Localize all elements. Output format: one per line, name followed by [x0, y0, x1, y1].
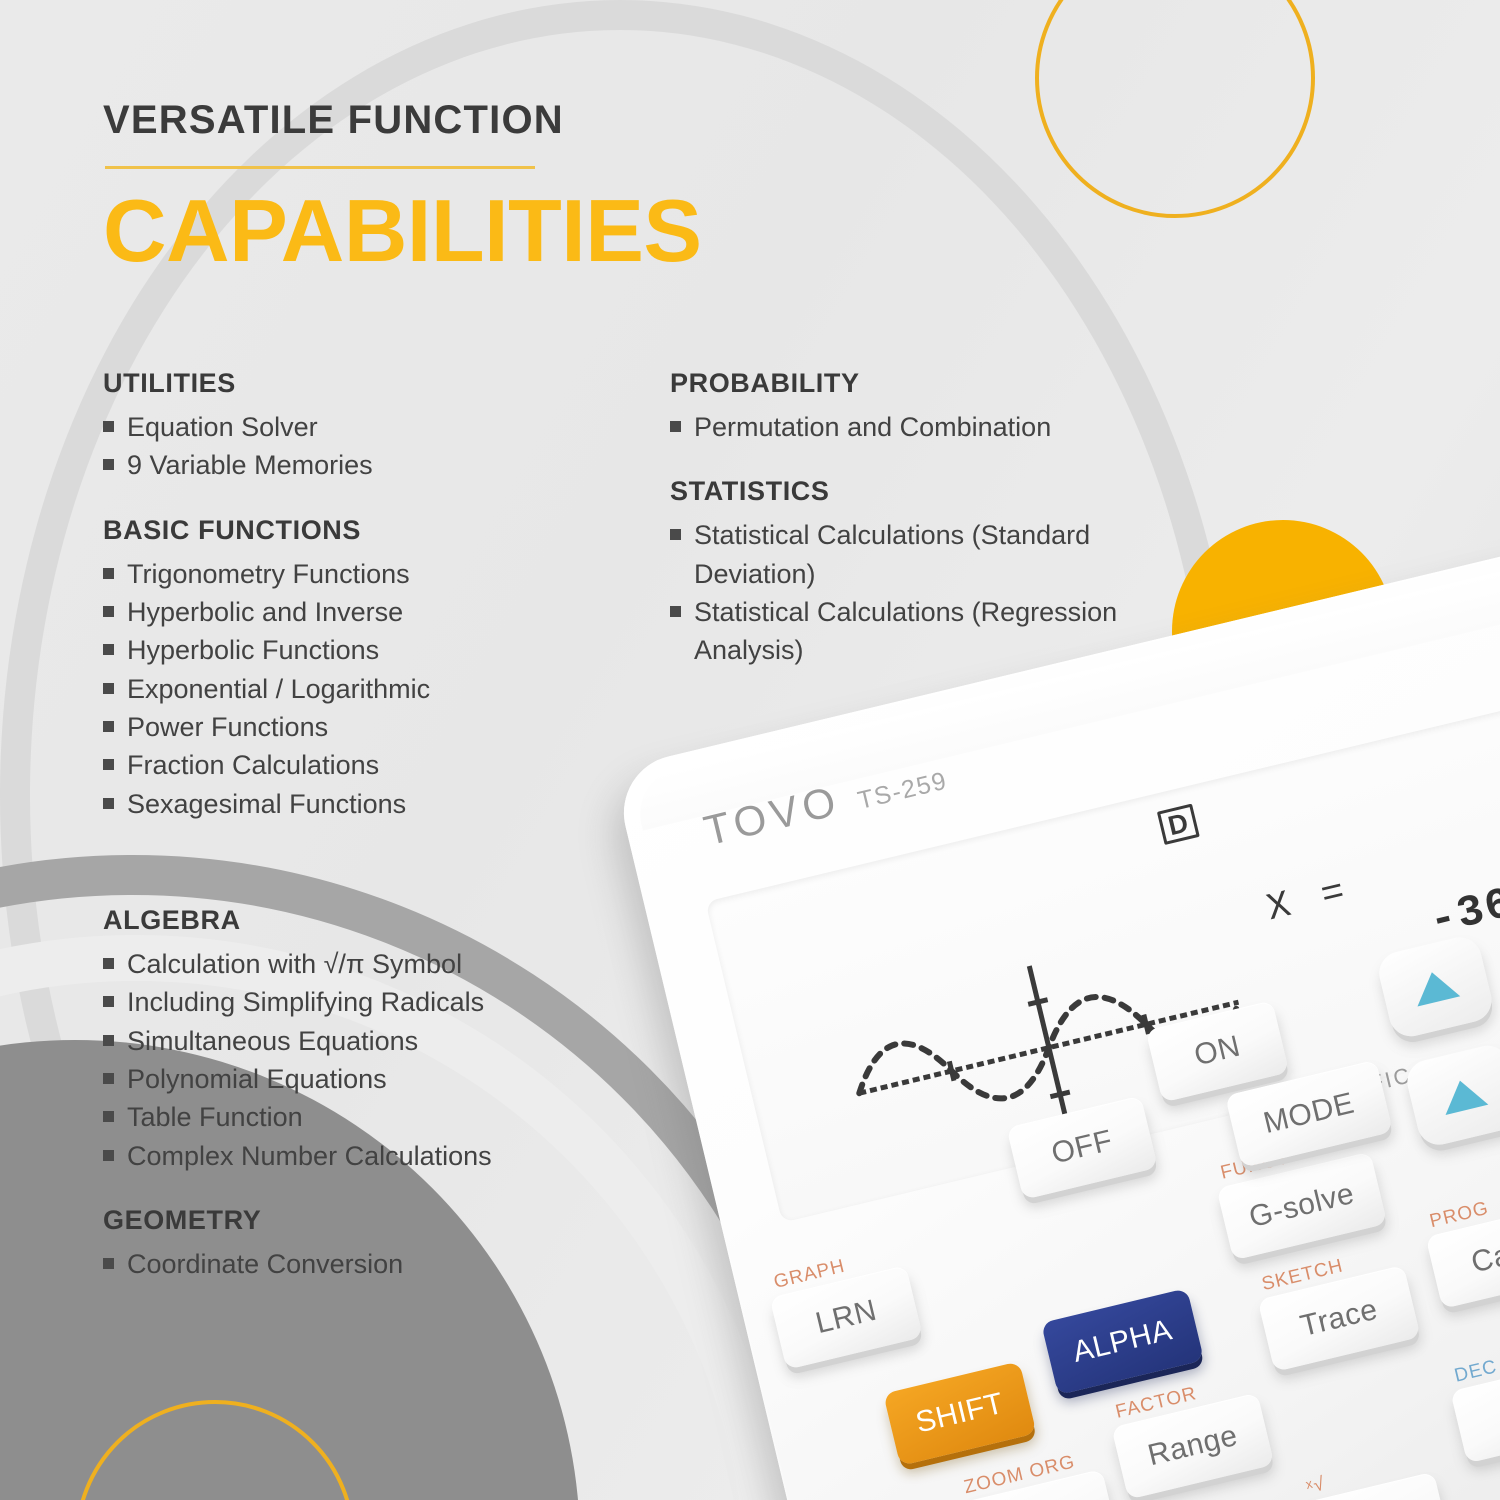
- lcd-prompt: X =: [1263, 870, 1354, 931]
- page-header: VERSATILE FUNCTION CAPABILITIES: [103, 98, 863, 275]
- bullet-icon: [103, 721, 114, 732]
- list-item: Equation Solver: [103, 408, 663, 446]
- list-item-label: Simultaneous Equations: [127, 1022, 418, 1060]
- column-left-lower: ALGEBRA Calculation with √/π Symbol Incl…: [103, 905, 683, 1283]
- list-item: 9 Variable Memories: [103, 446, 663, 484]
- list-item: Including Simplifying Radicals: [103, 983, 683, 1021]
- group-title: PROBABILITY: [670, 368, 1210, 399]
- group-list: Equation Solver 9 Variable Memories: [103, 408, 663, 485]
- key-alpha[interactable]: ALPHA: [1041, 1288, 1204, 1395]
- bullet-icon: [103, 1258, 114, 1269]
- bullet-icon: [103, 759, 114, 770]
- list-item: Permutation and Combination: [670, 408, 1210, 446]
- list-item-label: Hyperbolic and Inverse: [127, 593, 403, 631]
- list-item: Calculation with √/π Symbol: [103, 945, 683, 983]
- group-list: Permutation and Combination: [670, 408, 1210, 446]
- group-title: STATISTICS: [670, 476, 1210, 507]
- bullet-icon: [103, 1111, 114, 1122]
- bullet-icon: [670, 606, 681, 617]
- group-list: Trigonometry Functions Hyperbolic and In…: [103, 555, 663, 823]
- bullet-icon: [103, 683, 114, 694]
- bullet-icon: [103, 568, 114, 579]
- group-utilities: UTILITIES Equation Solver 9 Variable Mem…: [103, 368, 663, 485]
- bullet-icon: [103, 996, 114, 1007]
- group-probability: PROBABILITY Permutation and Combination: [670, 368, 1210, 446]
- list-item-label: Sexagesimal Functions: [127, 785, 406, 823]
- list-item: Sexagesimal Functions: [103, 785, 663, 823]
- list-item: Fraction Calculations: [103, 746, 663, 784]
- column-left-upper: UTILITIES Equation Solver 9 Variable Mem…: [103, 368, 663, 823]
- list-item: Power Functions: [103, 708, 663, 746]
- group-algebra: ALGEBRA Calculation with √/π Symbol Incl…: [103, 905, 683, 1175]
- arrow-up-icon: [1410, 967, 1460, 1006]
- key-sub-nth-root: ˣ√: [1304, 1474, 1327, 1500]
- lcd-mode-indicator: D: [1157, 804, 1200, 846]
- list-item-label: Table Function: [127, 1098, 303, 1136]
- header-divider: [105, 166, 535, 169]
- arrow-up-icon: [1439, 1075, 1489, 1114]
- bullet-icon: [103, 459, 114, 470]
- group-basic-functions: BASIC FUNCTIONS Trigonometry Functions H…: [103, 515, 663, 823]
- bullet-icon: [103, 421, 114, 432]
- header-kicker: VERSATILE FUNCTION: [103, 98, 863, 142]
- group-geometry: GEOMETRY Coordinate Conversion: [103, 1205, 683, 1283]
- list-item-label: Calculation with √/π Symbol: [127, 945, 462, 983]
- list-item: Table Function: [103, 1098, 683, 1136]
- bullet-icon: [103, 1035, 114, 1046]
- list-item-label: Exponential / Logarithmic: [127, 670, 430, 708]
- bullet-icon: [103, 958, 114, 969]
- bullet-icon: [103, 1150, 114, 1161]
- group-statistics: STATISTICS Statistical Calculations (Sta…: [670, 476, 1210, 669]
- list-item: Trigonometry Functions: [103, 555, 663, 593]
- group-title: BASIC FUNCTIONS: [103, 515, 663, 546]
- list-item-label: Hyperbolic Functions: [127, 631, 379, 669]
- list-item-label: Statistical Calculations (Standard Devia…: [694, 516, 1210, 593]
- list-item: Simultaneous Equations: [103, 1022, 683, 1060]
- list-item: Hyperbolic Functions: [103, 631, 663, 669]
- group-list: Coordinate Conversion: [103, 1245, 683, 1283]
- list-item-label: Equation Solver: [127, 408, 318, 446]
- list-item-label: Coordinate Conversion: [127, 1245, 403, 1283]
- bullet-icon: [670, 529, 681, 540]
- list-item-label: Permutation and Combination: [694, 408, 1051, 446]
- bullet-icon: [103, 798, 114, 809]
- infographic-canvas: VERSATILE FUNCTION CAPABILITIES UTILITIE…: [0, 0, 1500, 1500]
- list-item: Coordinate Conversion: [103, 1245, 683, 1283]
- list-item: Complex Number Calculations: [103, 1137, 683, 1175]
- list-item-label: Power Functions: [127, 708, 328, 746]
- group-title: UTILITIES: [103, 368, 663, 399]
- key-shift[interactable]: SHIFT: [883, 1361, 1036, 1466]
- bullet-icon: [103, 606, 114, 617]
- bullet-icon: [103, 644, 114, 655]
- model-number: TS-259: [855, 766, 950, 815]
- group-list: Calculation with √/π Symbol Including Si…: [103, 945, 683, 1175]
- bullet-icon: [103, 1073, 114, 1084]
- list-item: Statistical Calculations (Standard Devia…: [670, 516, 1210, 593]
- bullet-icon: [670, 421, 681, 432]
- list-item-label: 9 Variable Memories: [127, 446, 373, 484]
- list-item-label: Fraction Calculations: [127, 746, 379, 784]
- column-right: PROBABILITY Permutation and Combination …: [670, 368, 1210, 670]
- list-item: Hyperbolic and Inverse: [103, 593, 663, 631]
- list-item: Exponential / Logarithmic: [103, 670, 663, 708]
- group-title: GEOMETRY: [103, 1205, 683, 1236]
- list-item: Polynomial Equations: [103, 1060, 683, 1098]
- group-title: ALGEBRA: [103, 905, 683, 936]
- list-item-label: Complex Number Calculations: [127, 1137, 492, 1175]
- list-item-label: Polynomial Equations: [127, 1060, 387, 1098]
- lcd-value: -360.: [1425, 866, 1500, 948]
- list-item-label: Including Simplifying Radicals: [127, 983, 484, 1021]
- page-title: CAPABILITIES: [103, 187, 863, 275]
- list-item-label: Trigonometry Functions: [127, 555, 410, 593]
